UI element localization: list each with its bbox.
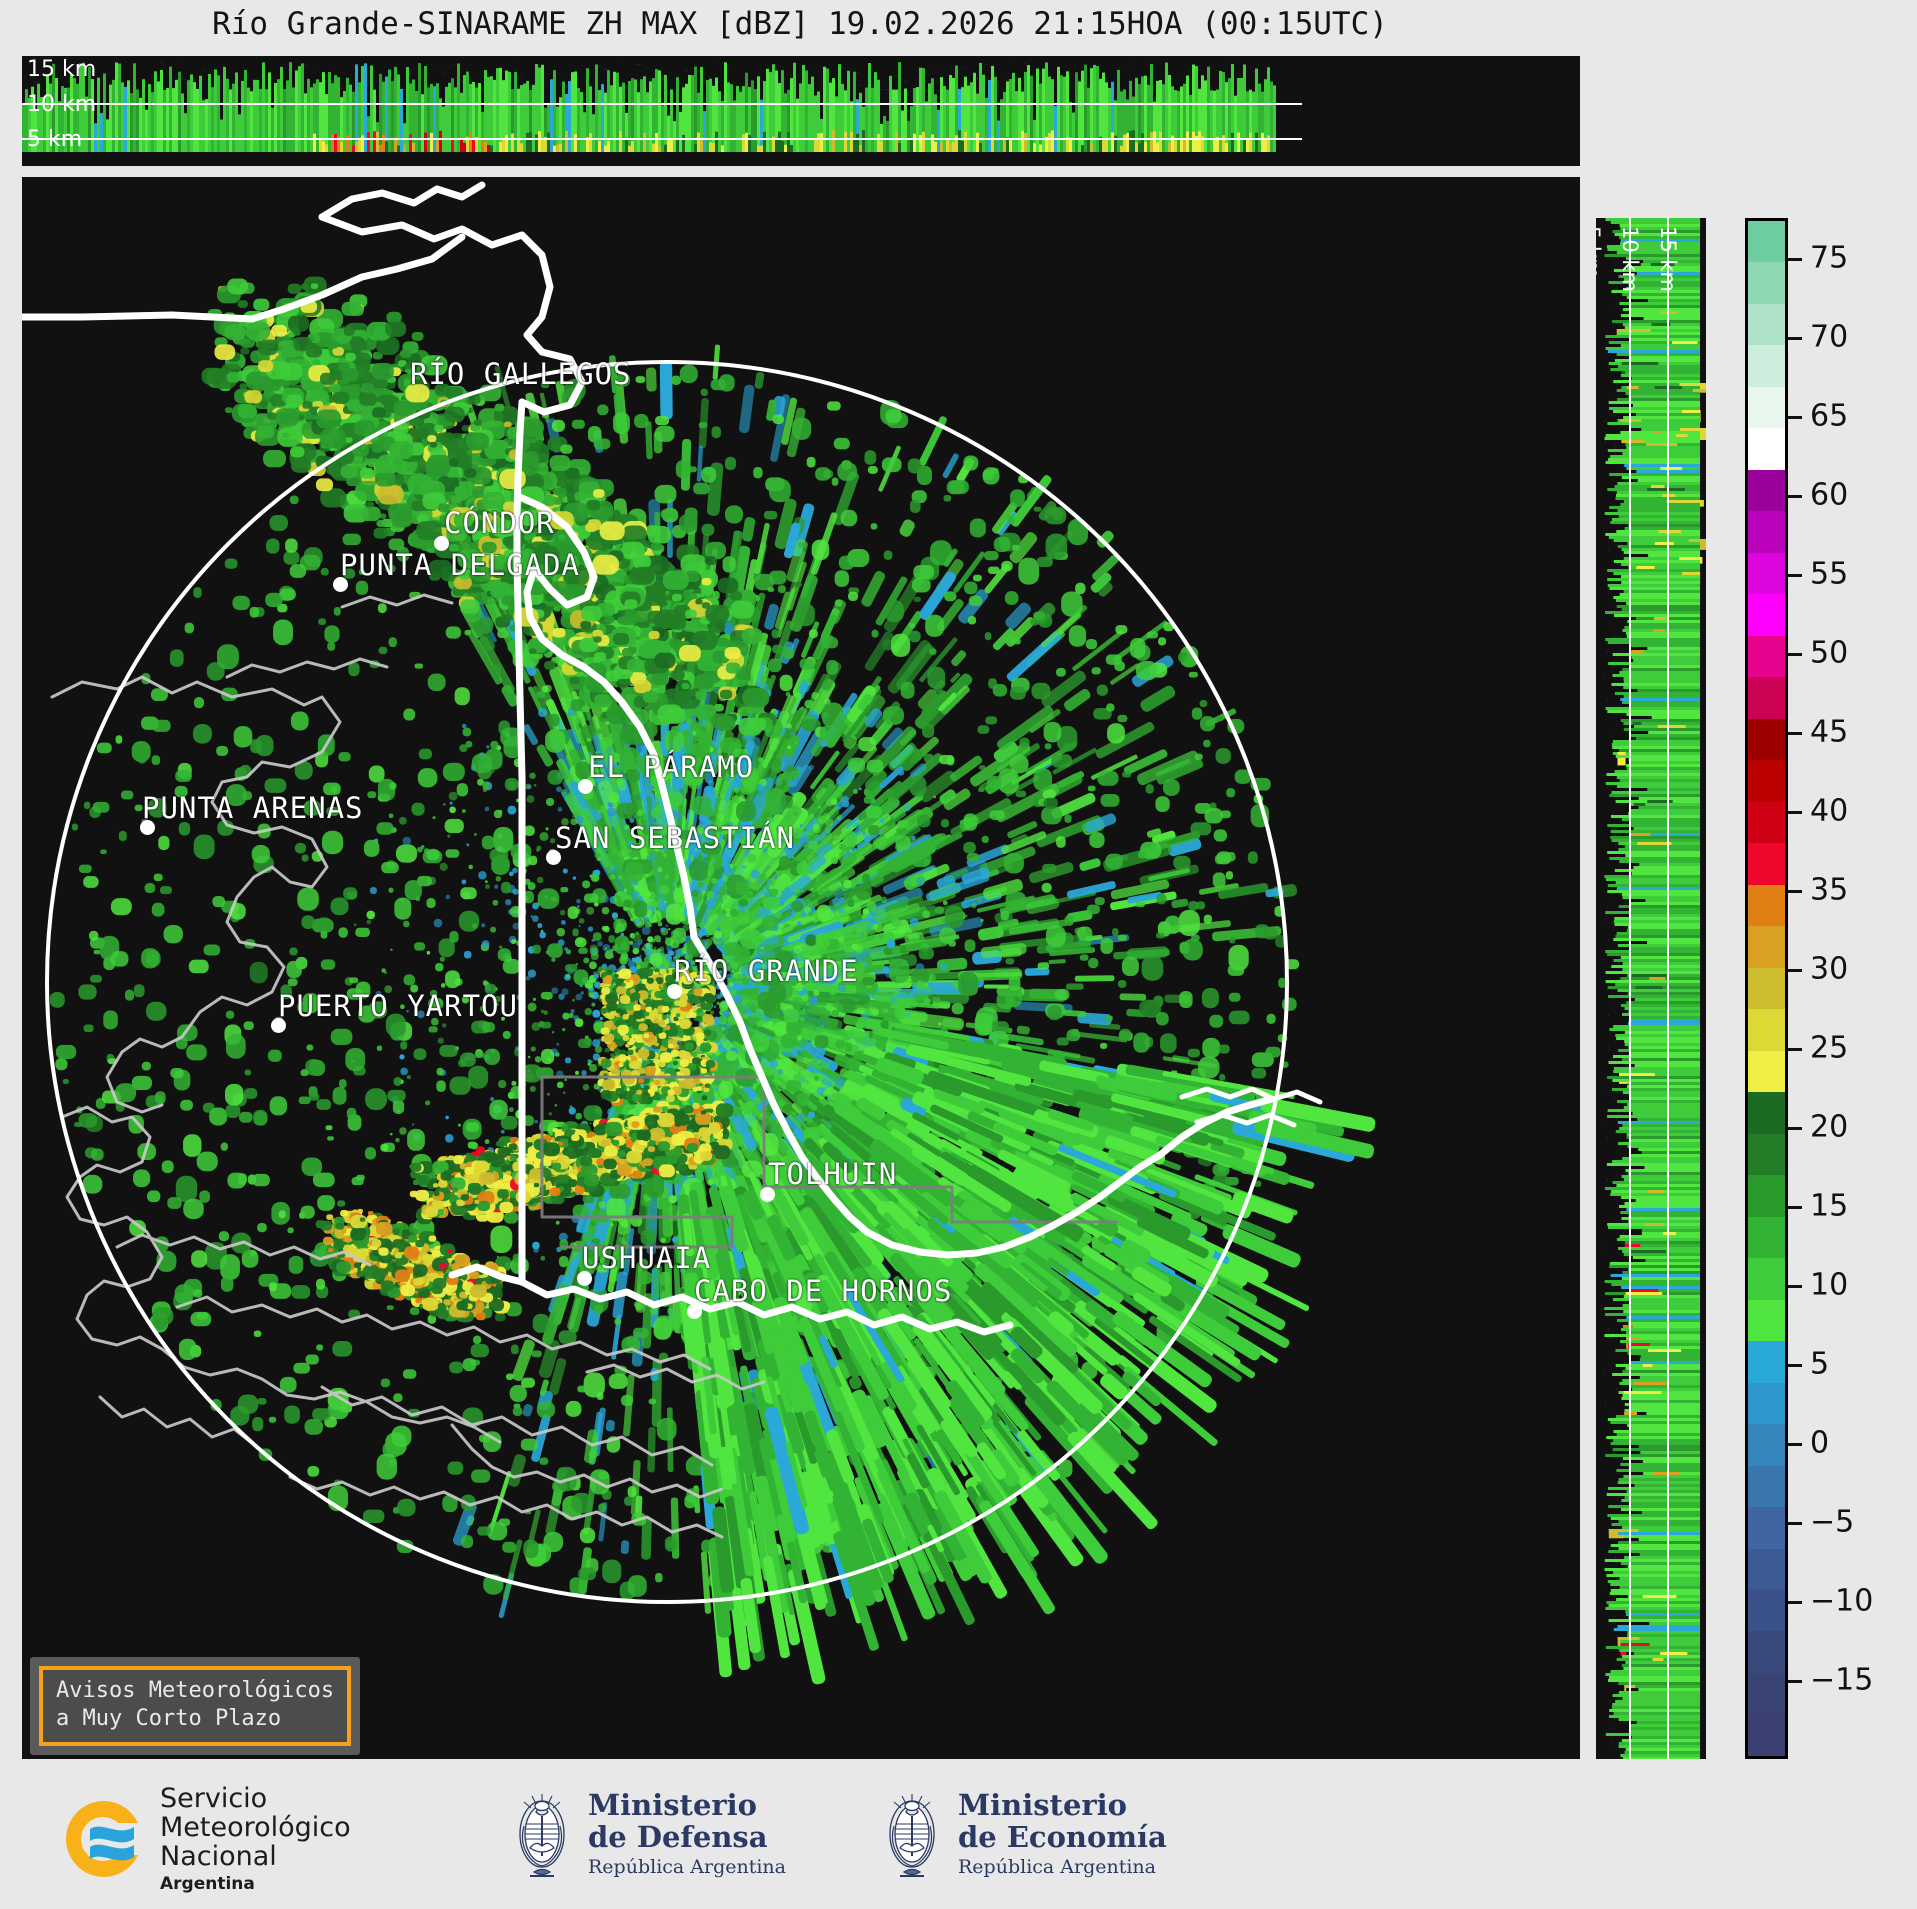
- smn-line4: Argentina: [160, 1874, 351, 1894]
- city-label: CÓNDOR: [444, 506, 555, 540]
- logo-ministerio-economia[interactable]: Ministerio de Economía República Argenti…: [880, 1786, 1167, 1882]
- defensa-line3: República Argentina: [588, 1856, 786, 1878]
- smn-line1: Servicio: [160, 1784, 351, 1813]
- argentina-coat-of-arms-icon: [880, 1786, 944, 1882]
- cross-section-top: 15 km 10 km 5 km: [22, 56, 1580, 166]
- colorbar-segment: [1748, 1673, 1785, 1714]
- colorbar-segment: [1748, 221, 1785, 262]
- colorbar-segment: [1748, 511, 1785, 552]
- colorbar-segment: [1748, 1383, 1785, 1424]
- colorbar-segment: [1748, 1092, 1785, 1133]
- colorbar-segment: [1748, 1424, 1785, 1465]
- city-label: PUERTO YARTOU: [278, 989, 518, 1023]
- colorbar-segment: [1748, 636, 1785, 677]
- colorbar-segment: [1748, 926, 1785, 967]
- colorbar-segment: [1748, 1507, 1785, 1548]
- colorbar-tick: [1788, 1285, 1802, 1288]
- warning-badge-inner: Avisos Meteorológicos a Muy Corto Plazo: [39, 1666, 351, 1746]
- colorbar-tick: [1788, 1601, 1802, 1604]
- warning-badge[interactable]: Avisos Meteorológicos a Muy Corto Plazo: [30, 1657, 360, 1755]
- warning-badge-line2: a Muy Corto Plazo: [56, 1705, 334, 1733]
- cross-section-right-image: [1596, 218, 1706, 1759]
- colorbar-segment: [1748, 677, 1785, 718]
- xsec-right-label-15km: 15 km: [1656, 226, 1680, 292]
- xsec-top-label-15km: 15 km: [27, 59, 96, 81]
- colorbar-segment: [1748, 1051, 1785, 1092]
- colorbar-tick-label: 20: [1810, 1109, 1848, 1144]
- ministerio-economia-text: Ministerio de Economía República Argenti…: [958, 1790, 1167, 1878]
- city-label: PUNTA ARENAS: [142, 791, 364, 825]
- colorbar-segment: [1748, 553, 1785, 594]
- colorbar-segment: [1748, 1009, 1785, 1050]
- colorbar-tick-label: 35: [1810, 872, 1848, 907]
- colorbar-tick-label: −10: [1810, 1583, 1873, 1618]
- colorbar-segment: [1748, 345, 1785, 386]
- colorbar-segment: [1748, 304, 1785, 345]
- colorbar-segment: [1748, 387, 1785, 428]
- colorbar-tick: [1788, 495, 1802, 498]
- colorbar-tick: [1788, 1127, 1802, 1130]
- colorbar-tick-label: 5: [1810, 1346, 1829, 1381]
- logo-ministerio-defensa[interactable]: Ministerio de Defensa República Argentin…: [510, 1786, 786, 1882]
- city-marker: [667, 984, 682, 999]
- colorbar-tick-label: 30: [1810, 951, 1848, 986]
- colorbar-segment: [1748, 1341, 1785, 1382]
- colorbar-segment: [1748, 1258, 1785, 1299]
- colorbar-tick-label: 70: [1810, 319, 1848, 354]
- page-title: Río Grande-SINARAME ZH MAX [dBZ] 19.02.2…: [0, 6, 1600, 42]
- cross-section-top-image: [22, 56, 1580, 166]
- city-marker: [760, 1187, 775, 1202]
- colorbar-tick-label: 55: [1810, 556, 1848, 591]
- colorbar-tick: [1788, 337, 1802, 340]
- city-marker: [578, 779, 593, 794]
- cross-section-right: 5 km 10 km 15 km: [1596, 218, 1706, 1759]
- colorbar-tick-label: 65: [1810, 398, 1848, 433]
- colorbar-segment: [1748, 802, 1785, 843]
- colorbar-tick: [1788, 574, 1802, 577]
- ministerio-defensa-text: Ministerio de Defensa República Argentin…: [588, 1790, 786, 1878]
- colorbar-tick-label: 60: [1810, 477, 1848, 512]
- colorbar-segment: [1748, 719, 1785, 760]
- city-label: RÍO GALLEGOS: [410, 357, 632, 391]
- colorbar-tick: [1788, 969, 1802, 972]
- city-label: TOLHUIN: [768, 1157, 897, 1191]
- colorbar-tick-label: 40: [1810, 793, 1848, 828]
- colorbar-segment: [1748, 594, 1785, 635]
- economia-line1: Ministerio: [958, 1790, 1167, 1822]
- xsec-top-label-10km: 10 km: [27, 94, 96, 116]
- colorbar-segment: [1748, 470, 1785, 511]
- city-marker: [271, 1018, 286, 1033]
- city-label: PUNTA DELGADA: [340, 548, 580, 582]
- colorbar-tick-label: 10: [1810, 1267, 1848, 1302]
- colorbar-tick: [1788, 1443, 1802, 1446]
- defensa-line1: Ministerio: [588, 1790, 786, 1822]
- colorbar-tick: [1788, 811, 1802, 814]
- colorbar-tick: [1788, 653, 1802, 656]
- colorbar-segment: [1748, 1714, 1785, 1755]
- colorbar-ticks: 757065605550454035302520151050−5−10−15: [1788, 218, 1917, 1759]
- colorbar-segment: [1748, 262, 1785, 303]
- colorbar-segment: [1748, 1466, 1785, 1507]
- colorbar-segment: [1748, 885, 1785, 926]
- city-label: CABO DE HORNOS: [694, 1274, 952, 1308]
- colorbar-tick: [1788, 258, 1802, 261]
- economia-line3: República Argentina: [958, 1856, 1167, 1878]
- colorbar-tick: [1788, 416, 1802, 419]
- colorbar-tick: [1788, 1680, 1802, 1683]
- colorbar-tick-label: 15: [1810, 1188, 1848, 1223]
- colorbar-tick-label: 75: [1810, 240, 1848, 275]
- smn-line2: Meteorológico: [160, 1813, 351, 1842]
- colorbar-segment: [1748, 1175, 1785, 1216]
- colorbar-tick: [1788, 1206, 1802, 1209]
- city-marker: [140, 820, 155, 835]
- xsec-right-label-5km: 5 km: [1596, 226, 1604, 279]
- logo-smn[interactable]: Servicio Meteorológico Nacional Argentin…: [60, 1784, 351, 1894]
- colorbar-segment: [1748, 1300, 1785, 1341]
- smn-logo-icon: [60, 1795, 148, 1883]
- colorbar-segment: [1748, 428, 1785, 469]
- colorbar-tick: [1788, 732, 1802, 735]
- colorbar-tick: [1788, 1522, 1802, 1525]
- colorbar[interactable]: [1745, 218, 1788, 1759]
- colorbar-tick-label: 50: [1810, 635, 1848, 670]
- colorbar-segment: [1748, 1590, 1785, 1631]
- colorbar-tick-label: 25: [1810, 1030, 1848, 1065]
- city-label: USHUAIA: [582, 1241, 711, 1275]
- colorbar-tick-label: −15: [1810, 1662, 1873, 1697]
- xsec-top-label-5km: 5 km: [27, 129, 82, 151]
- smn-logo-text: Servicio Meteorológico Nacional Argentin…: [160, 1784, 351, 1894]
- radar-ppi-panel[interactable]: RÍO GALLEGOSCÓNDORPUNTA DELGADAPUNTA ARE…: [22, 177, 1580, 1759]
- argentina-coat-of-arms-icon: [510, 1786, 574, 1882]
- xsec-right-label-10km: 10 km: [1618, 226, 1642, 292]
- city-marker: [333, 577, 348, 592]
- colorbar-tick-label: 0: [1810, 1425, 1829, 1460]
- city-marker: [687, 1304, 702, 1319]
- city-marker: [577, 1271, 592, 1286]
- footer: Servicio Meteorológico Nacional Argentin…: [0, 1770, 1917, 1909]
- colorbar-segment: [1748, 1631, 1785, 1672]
- colorbar-tick: [1788, 890, 1802, 893]
- smn-line3: Nacional: [160, 1842, 351, 1871]
- colorbar-tick-label: 45: [1810, 714, 1848, 749]
- economia-line2: de Economía: [958, 1822, 1167, 1854]
- warning-badge-line1: Avisos Meteorológicos: [56, 1677, 334, 1705]
- colorbar-segment: [1748, 1217, 1785, 1258]
- city-label: EL PÁRAMO: [588, 750, 754, 784]
- colorbar-segment: [1748, 1549, 1785, 1590]
- city-label: SAN SEBASTIÁN: [555, 821, 795, 855]
- colorbar-tick: [1788, 1048, 1802, 1051]
- colorbar-tick-label: −5: [1810, 1504, 1854, 1539]
- city-label: RÍO GRANDE: [674, 954, 859, 988]
- city-marker: [546, 850, 561, 865]
- colorbar-segment: [1748, 843, 1785, 884]
- colorbar-segment: [1748, 760, 1785, 801]
- colorbar-segment: [1748, 1134, 1785, 1175]
- defensa-line2: de Defensa: [588, 1822, 786, 1854]
- colorbar-segment: [1748, 968, 1785, 1009]
- colorbar-tick: [1788, 1364, 1802, 1367]
